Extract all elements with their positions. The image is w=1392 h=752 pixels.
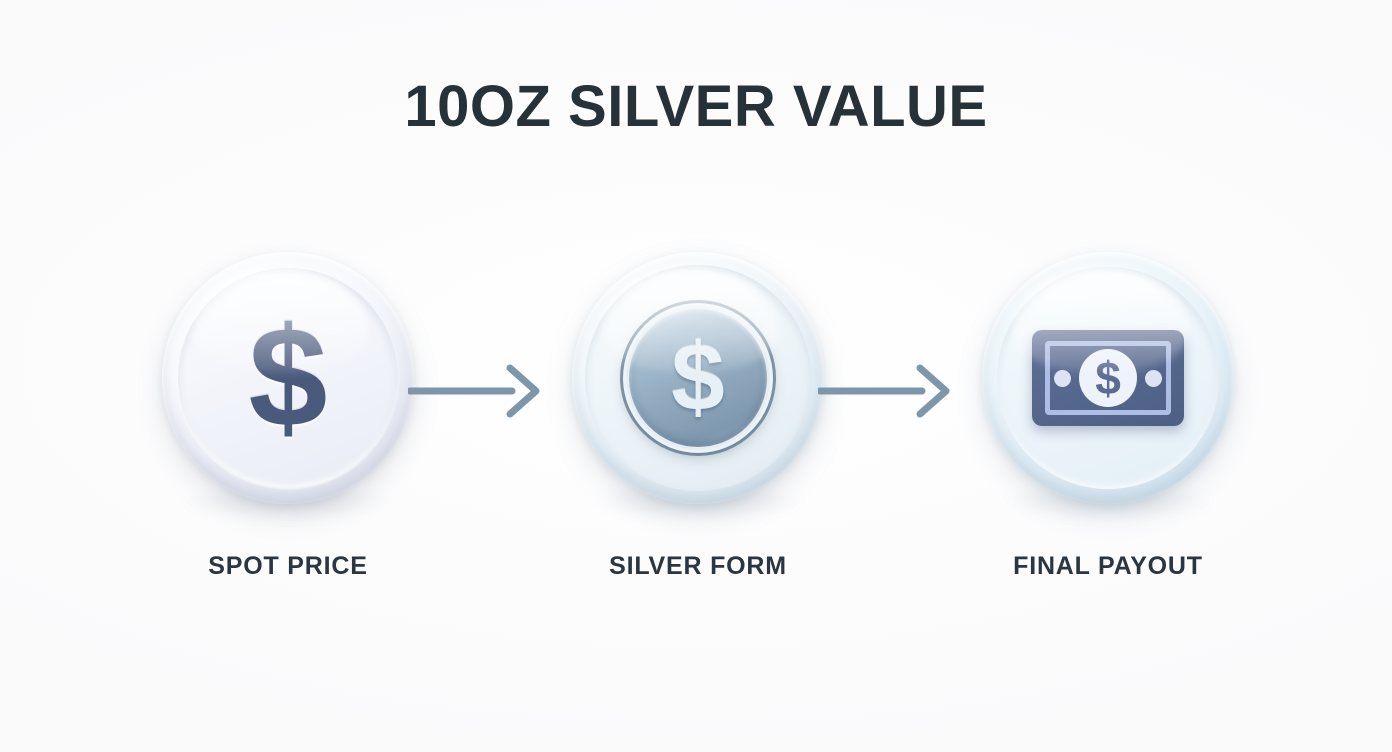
page-title: 10OZ SILVER VALUE [0, 78, 1392, 136]
flow-diagram: $ $ [0, 252, 1392, 512]
coin-disc: $ [982, 252, 1234, 504]
flow-step-label-spot-price: SPOT PRICE [162, 552, 414, 581]
banknote-body: $ [1032, 330, 1184, 426]
flow-step-silver-form[interactable]: $ [572, 252, 824, 504]
dollar-glyph: $ [1095, 355, 1121, 401]
dollar-sign-icon: $ [162, 252, 414, 504]
banknote-dot-right [1145, 370, 1162, 387]
infographic-canvas: 10OZ SILVER VALUE $ $ [0, 0, 1392, 752]
coin-disc: $ [572, 252, 824, 504]
dollar-glyph: $ [671, 330, 724, 426]
coin-disc: $ [162, 252, 414, 504]
arrow-right-icon [818, 362, 954, 420]
flow-step-final-payout[interactable]: $ [982, 252, 1234, 504]
banknote-dot-left [1054, 370, 1071, 387]
dollar-glyph: $ [249, 307, 328, 449]
flow-step-label-final-payout: FINAL PAYOUT [982, 552, 1234, 581]
silver-coin-icon: $ [624, 304, 772, 452]
flow-step-spot-price[interactable]: $ [162, 252, 414, 504]
banknote-center-disc: $ [1079, 349, 1137, 407]
arrow-right-icon [408, 362, 544, 420]
banknote-icon: $ [982, 252, 1234, 504]
flow-step-label-silver-form: SILVER FORM [572, 552, 824, 581]
flow-labels: SPOT PRICE SILVER FORM FINAL PAYOUT [0, 552, 1392, 592]
